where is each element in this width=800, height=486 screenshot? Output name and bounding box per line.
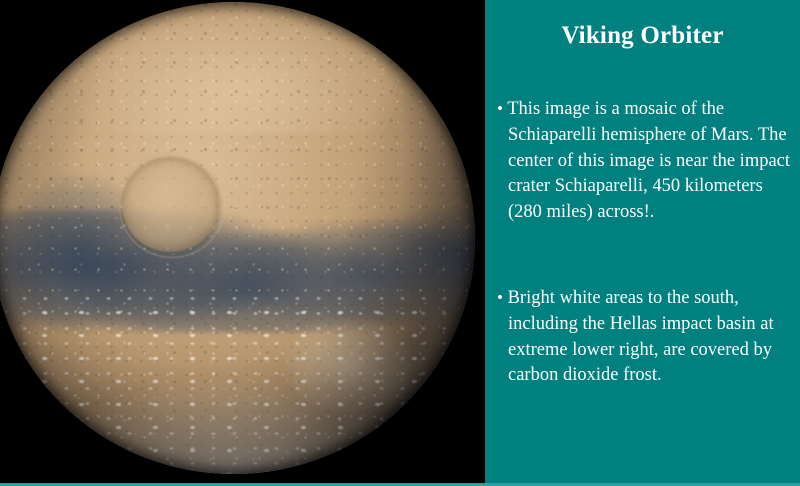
bullet-item-1: • This image is a mosaic of the Schiapar…	[497, 96, 797, 226]
bullet-text: Bright white areas to the south, includi…	[508, 288, 774, 385]
schiaparelli-crater-rim	[119, 154, 225, 258]
text-panel: Viking Orbiter • This image is a mosaic …	[485, 0, 800, 486]
slide: Viking Orbiter • This image is a mosaic …	[0, 0, 800, 486]
bullet-item-2: • Bright white areas to the south, inclu…	[497, 285, 797, 389]
bullet-text: This image is a mosaic of the Schiaparel…	[507, 99, 790, 222]
bullet-marker: •	[497, 288, 503, 307]
bullet-list: • This image is a mosaic of the Schiapar…	[497, 96, 797, 389]
mars-image-panel	[0, 0, 485, 486]
mars-globe	[0, 2, 475, 474]
bullet-marker: •	[497, 99, 503, 118]
frost-speckle	[21, 295, 446, 474]
mars-globe-surface	[0, 2, 475, 474]
page-title: Viking Orbiter	[485, 22, 800, 50]
